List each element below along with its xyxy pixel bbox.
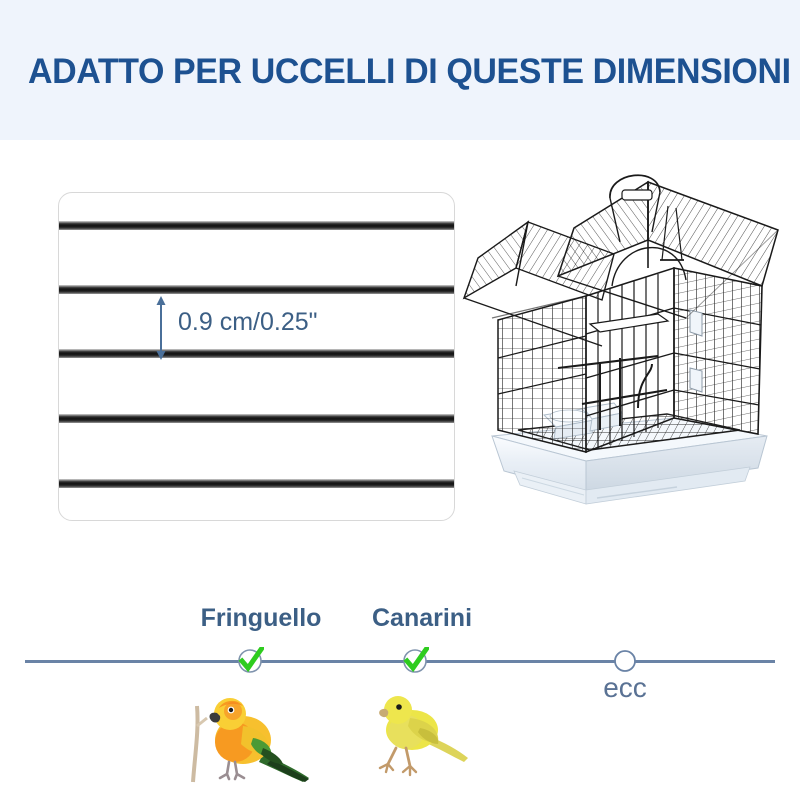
cage-bar — [58, 221, 455, 230]
page-title: ADATTO PER UCCELLI DI QUESTE DIMENSIONI — [28, 52, 791, 92]
measurement-annotation: 0.9 cm/0.25" — [150, 296, 380, 360]
timeline-label-fringuello: Fringuello — [201, 604, 322, 633]
canary-bird-image — [360, 682, 476, 788]
cage-platform — [590, 314, 668, 332]
cage-left-wall — [498, 296, 586, 452]
header-band: ADATTO PER UCCELLI DI QUESTE DIMENSIONI — [0, 0, 800, 140]
cage-bar — [58, 479, 455, 488]
timeline-label-ecc: ecc — [603, 672, 647, 704]
cage-bar — [58, 285, 455, 294]
birdcage-illustration — [462, 168, 792, 513]
double-arrow-icon — [150, 296, 172, 360]
timeline-axis — [25, 660, 775, 663]
empty-circle-marker-icon — [611, 647, 639, 675]
check-marker-icon — [401, 647, 429, 675]
measurement-label: 0.9 cm/0.25" — [178, 308, 318, 337]
check-marker-icon — [236, 647, 264, 675]
product-infographic-page: ADATTO PER UCCELLI DI QUESTE DIMENSIONI … — [0, 0, 800, 800]
timeline-label-canarini: Canarini — [372, 604, 472, 633]
cage-bar — [58, 414, 455, 423]
bird-suitability-timeline: Fringuello — [0, 596, 800, 800]
cage-front-wall — [674, 268, 762, 434]
sun-conure-bird-image — [185, 682, 315, 794]
